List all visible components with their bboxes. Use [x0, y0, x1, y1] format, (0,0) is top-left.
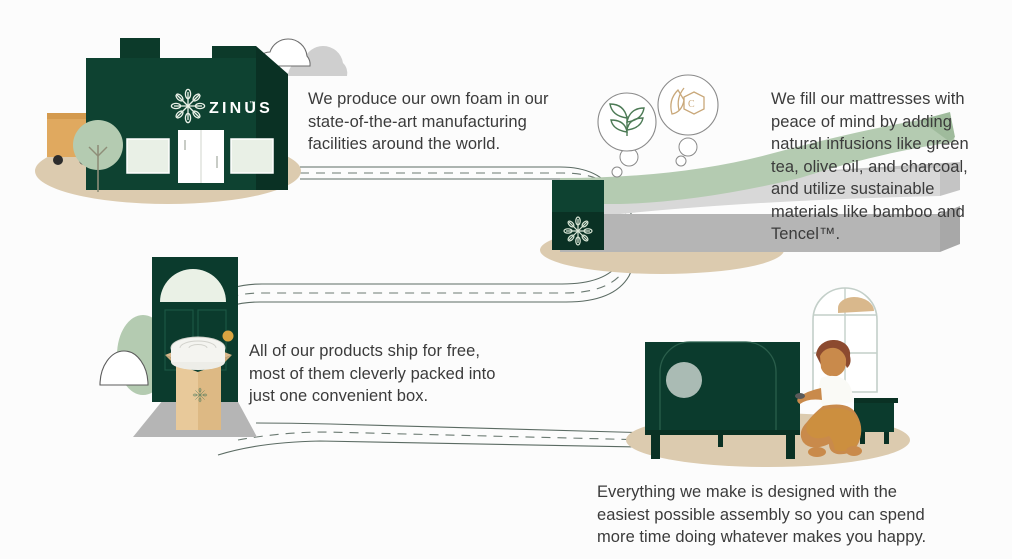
arched-window: [813, 288, 877, 392]
foot: [846, 446, 862, 456]
zinus-snowflake-logo-icon: [171, 89, 204, 122]
tool: [795, 393, 805, 399]
caption-infusions: We fill our mattresses with peace of min…: [771, 88, 976, 246]
thought-bubble-small: [612, 167, 622, 177]
bed-badge: [666, 362, 702, 398]
zinus-wordmark: ZINUS: [209, 100, 273, 117]
door-knob-icon: [223, 331, 234, 342]
charcoal-icon-bubble: C: [658, 75, 718, 135]
infographic-canvas: ZINUS ™: [0, 0, 1012, 559]
thought-bubble-small: [676, 156, 686, 166]
caption-shipping: All of our products ship for free, most …: [249, 340, 504, 408]
factory-window-right: [231, 139, 273, 173]
caption-assembly: Everything we make is designed with the …: [597, 481, 942, 549]
caption-manufacturing: We produce our own foam in our state-of-…: [308, 88, 570, 156]
trademark-mark: ™: [249, 100, 255, 107]
connecting-road-3: [218, 423, 690, 455]
illustration-artwork: ZINUS ™: [0, 0, 1012, 559]
scene-delivery: [100, 257, 257, 437]
rolled-mattress: [171, 337, 225, 370]
scene-assembly: [626, 288, 910, 467]
leaf-icon-bubble: [598, 93, 656, 151]
head: [820, 348, 846, 377]
zinus-box: [552, 180, 604, 250]
foot: [808, 447, 826, 457]
svg-text:C: C: [688, 99, 695, 110]
factory-window-left: [127, 139, 169, 173]
zinus-snowflake-logo-icon: [564, 217, 592, 245]
thought-bubble-medium: [679, 138, 697, 156]
